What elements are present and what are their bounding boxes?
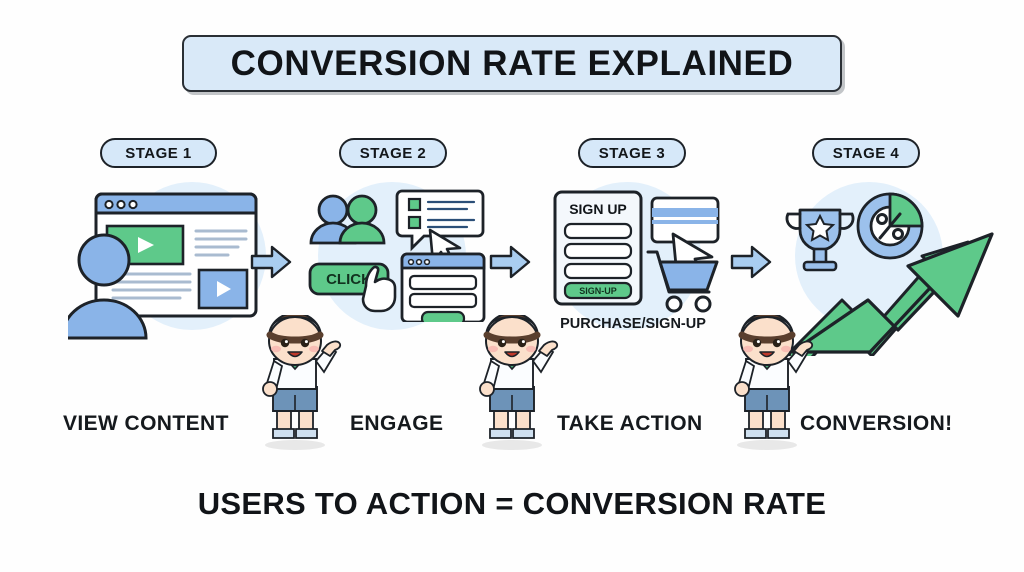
arrow-stage3-to-stage4 xyxy=(730,245,772,279)
stage-1-badge: STAGE 1 xyxy=(100,138,217,168)
arrow-stage1-to-stage2 xyxy=(250,245,292,279)
signup-button-label: SIGN-UP xyxy=(579,286,617,296)
page-title: CONVERSION RATE EXPLAINED xyxy=(231,44,794,84)
footer-formula: USERS TO ACTION = CONVERSION RATE xyxy=(0,486,1024,522)
boy-mascot-pointing-2 xyxy=(460,315,564,450)
boy-mascot-pointing-1 xyxy=(243,315,347,450)
stage-4-badge: STAGE 4 xyxy=(812,138,920,168)
arrow-stage2-to-stage3 xyxy=(489,245,531,279)
stage-2-badge: STAGE 2 xyxy=(339,138,447,168)
stage-3-badge: STAGE 3 xyxy=(578,138,686,168)
page-title-box: CONVERSION RATE EXPLAINED xyxy=(182,35,842,92)
stage-3-sublabel: PURCHASE/SIGN-UP xyxy=(553,316,713,332)
signup-cart-card-icon: SIGN UP SIGN-UP xyxy=(547,186,725,318)
infographic-canvas: CONVERSION RATE EXPLAINED STAGE 1 STAGE … xyxy=(0,0,1024,572)
signup-form-title: SIGN UP xyxy=(569,201,627,217)
stage-4-caption: CONVERSION! xyxy=(800,412,953,436)
stage-3-caption: TAKE ACTION xyxy=(557,412,703,436)
stage-2-caption: ENGAGE xyxy=(350,412,443,436)
stage-1-caption: VIEW CONTENT xyxy=(63,412,229,436)
click-users-form-icon: CLICK xyxy=(304,186,486,322)
